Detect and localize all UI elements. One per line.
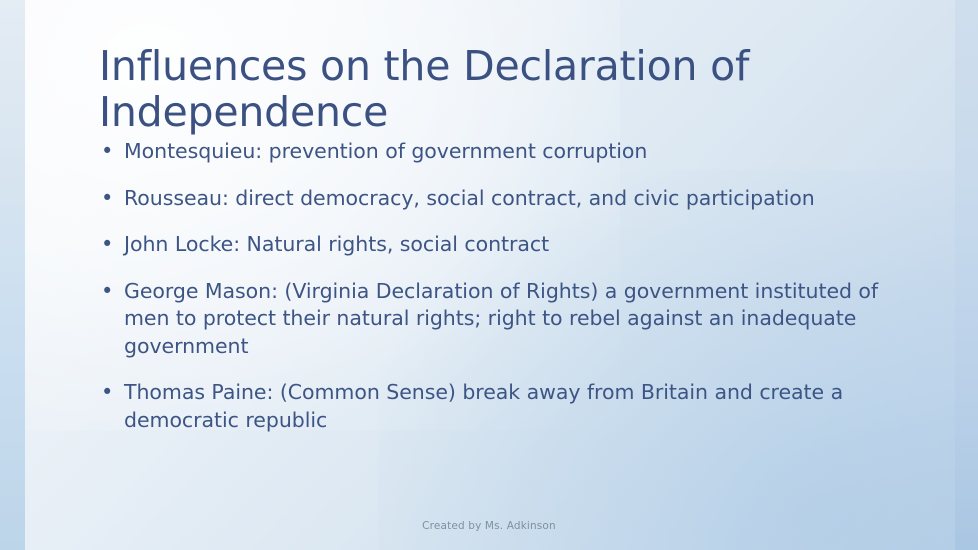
bullet-point-icon: • <box>99 278 124 305</box>
presentation-slide: Influences on the Declaration of Indepen… <box>0 0 978 550</box>
bullet-list: • Montesquieu: prevention of government … <box>99 138 889 453</box>
slide-footer-credit: Created by Ms. Adkinson <box>0 519 978 533</box>
slide-content: Influences on the Declaration of Indepen… <box>0 0 978 550</box>
list-item: • Montesquieu: prevention of government … <box>99 138 889 166</box>
bullet-text: George Mason: (Virginia Declaration of R… <box>124 278 889 361</box>
bullet-text: Montesquieu: prevention of government co… <box>124 138 889 166</box>
list-item: • George Mason: (Virginia Declaration of… <box>99 278 889 361</box>
bullet-point-icon: • <box>99 379 124 406</box>
bullet-text: Thomas Paine: (Common Sense) break away … <box>124 379 889 434</box>
list-item: • Thomas Paine: (Common Sense) break awa… <box>99 379 889 434</box>
bullet-point-icon: • <box>99 185 124 212</box>
slide-title: Influences on the Declaration of Indepen… <box>99 43 889 135</box>
bullet-point-icon: • <box>99 231 124 258</box>
list-item: • Rousseau: direct democracy, social con… <box>99 185 889 213</box>
list-item: • John Locke: Natural rights, social con… <box>99 231 889 259</box>
bullet-text: John Locke: Natural rights, social contr… <box>124 231 889 259</box>
bullet-point-icon: • <box>99 138 124 165</box>
bullet-text: Rousseau: direct democracy, social contr… <box>124 185 889 213</box>
